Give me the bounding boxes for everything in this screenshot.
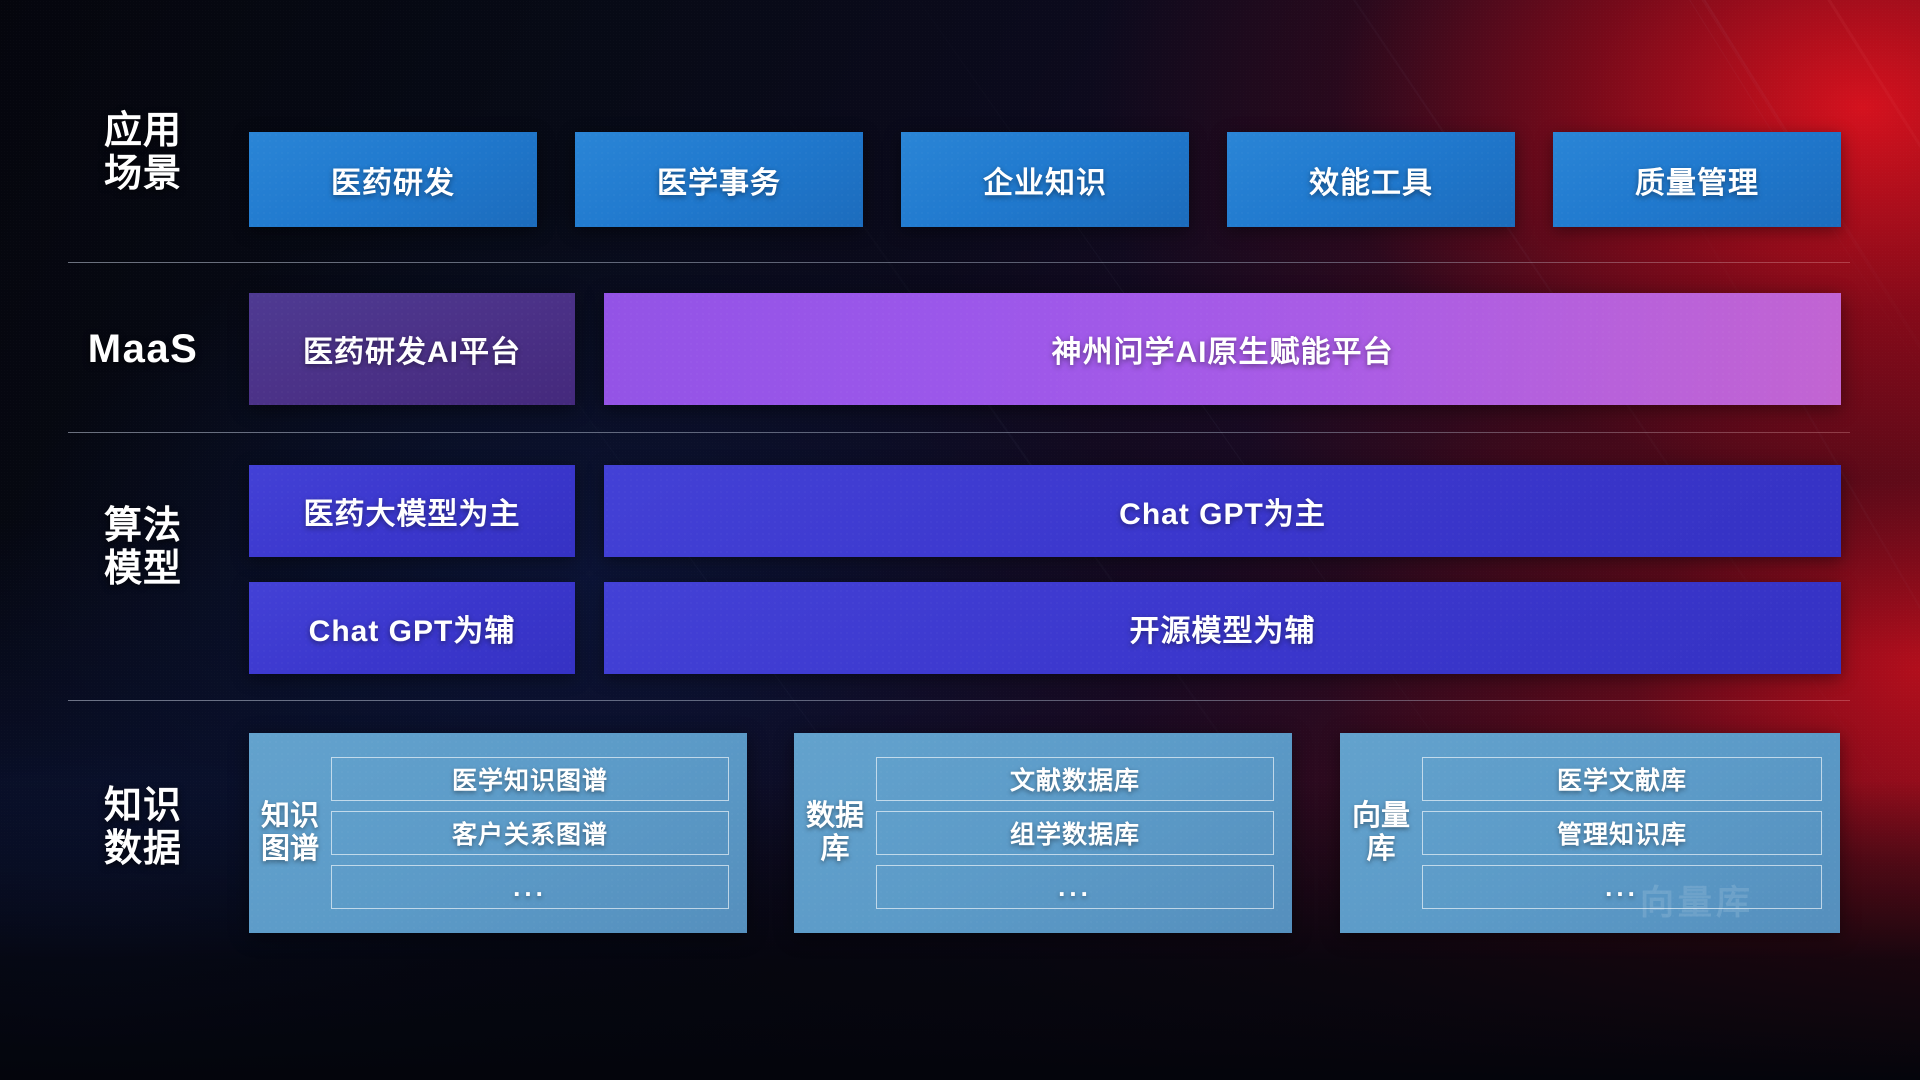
algorithm-box-opensource-secondary[interactable]: 开源模型为辅 <box>604 582 1841 674</box>
knowledge-item[interactable]: 管理知识库 <box>1422 811 1822 855</box>
knowledge-item[interactable]: 医学文献库 <box>1422 757 1822 801</box>
row-label-application-line2: 场景 <box>68 153 218 196</box>
application-box-label: 医药研发 <box>331 158 455 202</box>
application-box-quality-management[interactable]: 质量管理 <box>1553 132 1841 227</box>
knowledge-panel-items: 文献数据库 组学数据库 ... <box>868 743 1292 923</box>
algorithm-box-label: Chat GPT为辅 <box>309 606 516 650</box>
knowledge-panel-items: 医学文献库 管理知识库 ... <box>1414 743 1840 923</box>
knowledge-item-more[interactable]: ... <box>331 865 729 909</box>
divider-maas-algorithm <box>68 432 1850 433</box>
knowledge-item[interactable]: 客户关系图谱 <box>331 811 729 855</box>
knowledge-panel-database[interactable]: 数据库 文献数据库 组学数据库 ... <box>794 733 1292 933</box>
algorithm-box-chatgpt-secondary[interactable]: Chat GPT为辅 <box>249 582 575 674</box>
knowledge-item-more[interactable]: ... <box>1422 865 1822 909</box>
application-box-efficiency-tools[interactable]: 效能工具 <box>1227 132 1515 227</box>
knowledge-panel-items: 医学知识图谱 客户关系图谱 ... <box>323 743 747 923</box>
divider-application-maas <box>68 262 1850 263</box>
diagram-frame: 应用 场景 MaaS 算法 模型 知识 数据 医药研发 医学事务 企业知识 效能… <box>0 0 1920 1080</box>
row-label-knowledge: 知识 数据 <box>68 785 218 870</box>
application-box-label: 质量管理 <box>1635 158 1759 202</box>
algorithm-box-label: 医药大模型为主 <box>304 489 521 533</box>
knowledge-panel-knowledge-graph[interactable]: 知识图谱 医学知识图谱 客户关系图谱 ... <box>249 733 747 933</box>
row-label-maas-text: MaaS <box>88 327 199 372</box>
row-label-algorithm-line2: 模型 <box>68 548 218 591</box>
knowledge-item[interactable]: 组学数据库 <box>876 811 1274 855</box>
knowledge-panel-vector-store[interactable]: 向量库 向量库 医学文献库 管理知识库 ... <box>1340 733 1840 933</box>
application-box-label: 医学事务 <box>657 158 781 202</box>
application-box-medicine-rd[interactable]: 医药研发 <box>249 132 537 227</box>
row-label-knowledge-line2: 数据 <box>68 828 218 871</box>
row-label-algorithm-line1: 算法 <box>68 505 218 548</box>
maas-box-label: 神州问学AI原生赋能平台 <box>1052 327 1394 371</box>
knowledge-panel-label: 数据库 <box>794 800 868 866</box>
application-box-enterprise-knowledge[interactable]: 企业知识 <box>901 132 1189 227</box>
algorithm-box-label: 开源模型为辅 <box>1130 606 1316 650</box>
knowledge-item[interactable]: 医学知识图谱 <box>331 757 729 801</box>
algorithm-box-chatgpt-primary[interactable]: Chat GPT为主 <box>604 465 1841 557</box>
application-box-label: 企业知识 <box>983 158 1107 202</box>
row-label-application: 应用 场景 <box>68 110 218 195</box>
row-label-application-line1: 应用 <box>68 110 218 153</box>
knowledge-item[interactable]: 文献数据库 <box>876 757 1274 801</box>
algorithm-box-label: Chat GPT为主 <box>1119 489 1326 533</box>
knowledge-panel-label: 向量库 <box>1340 800 1414 866</box>
divider-algorithm-knowledge <box>68 700 1850 701</box>
knowledge-item-more[interactable]: ... <box>876 865 1274 909</box>
algorithm-box-pharma-llm-primary[interactable]: 医药大模型为主 <box>249 465 575 557</box>
application-box-label: 效能工具 <box>1309 158 1433 202</box>
maas-box-shenzhou-wenxue-platform[interactable]: 神州问学AI原生赋能平台 <box>604 293 1841 405</box>
maas-box-label: 医药研发AI平台 <box>303 327 521 371</box>
row-label-maas: MaaS <box>68 266 218 432</box>
application-box-medical-affairs[interactable]: 医学事务 <box>575 132 863 227</box>
maas-box-pharma-ai-platform[interactable]: 医药研发AI平台 <box>249 293 575 405</box>
row-label-knowledge-line1: 知识 <box>68 785 218 828</box>
knowledge-panel-label: 知识图谱 <box>249 800 323 866</box>
row-label-algorithm: 算法 模型 <box>68 505 218 590</box>
